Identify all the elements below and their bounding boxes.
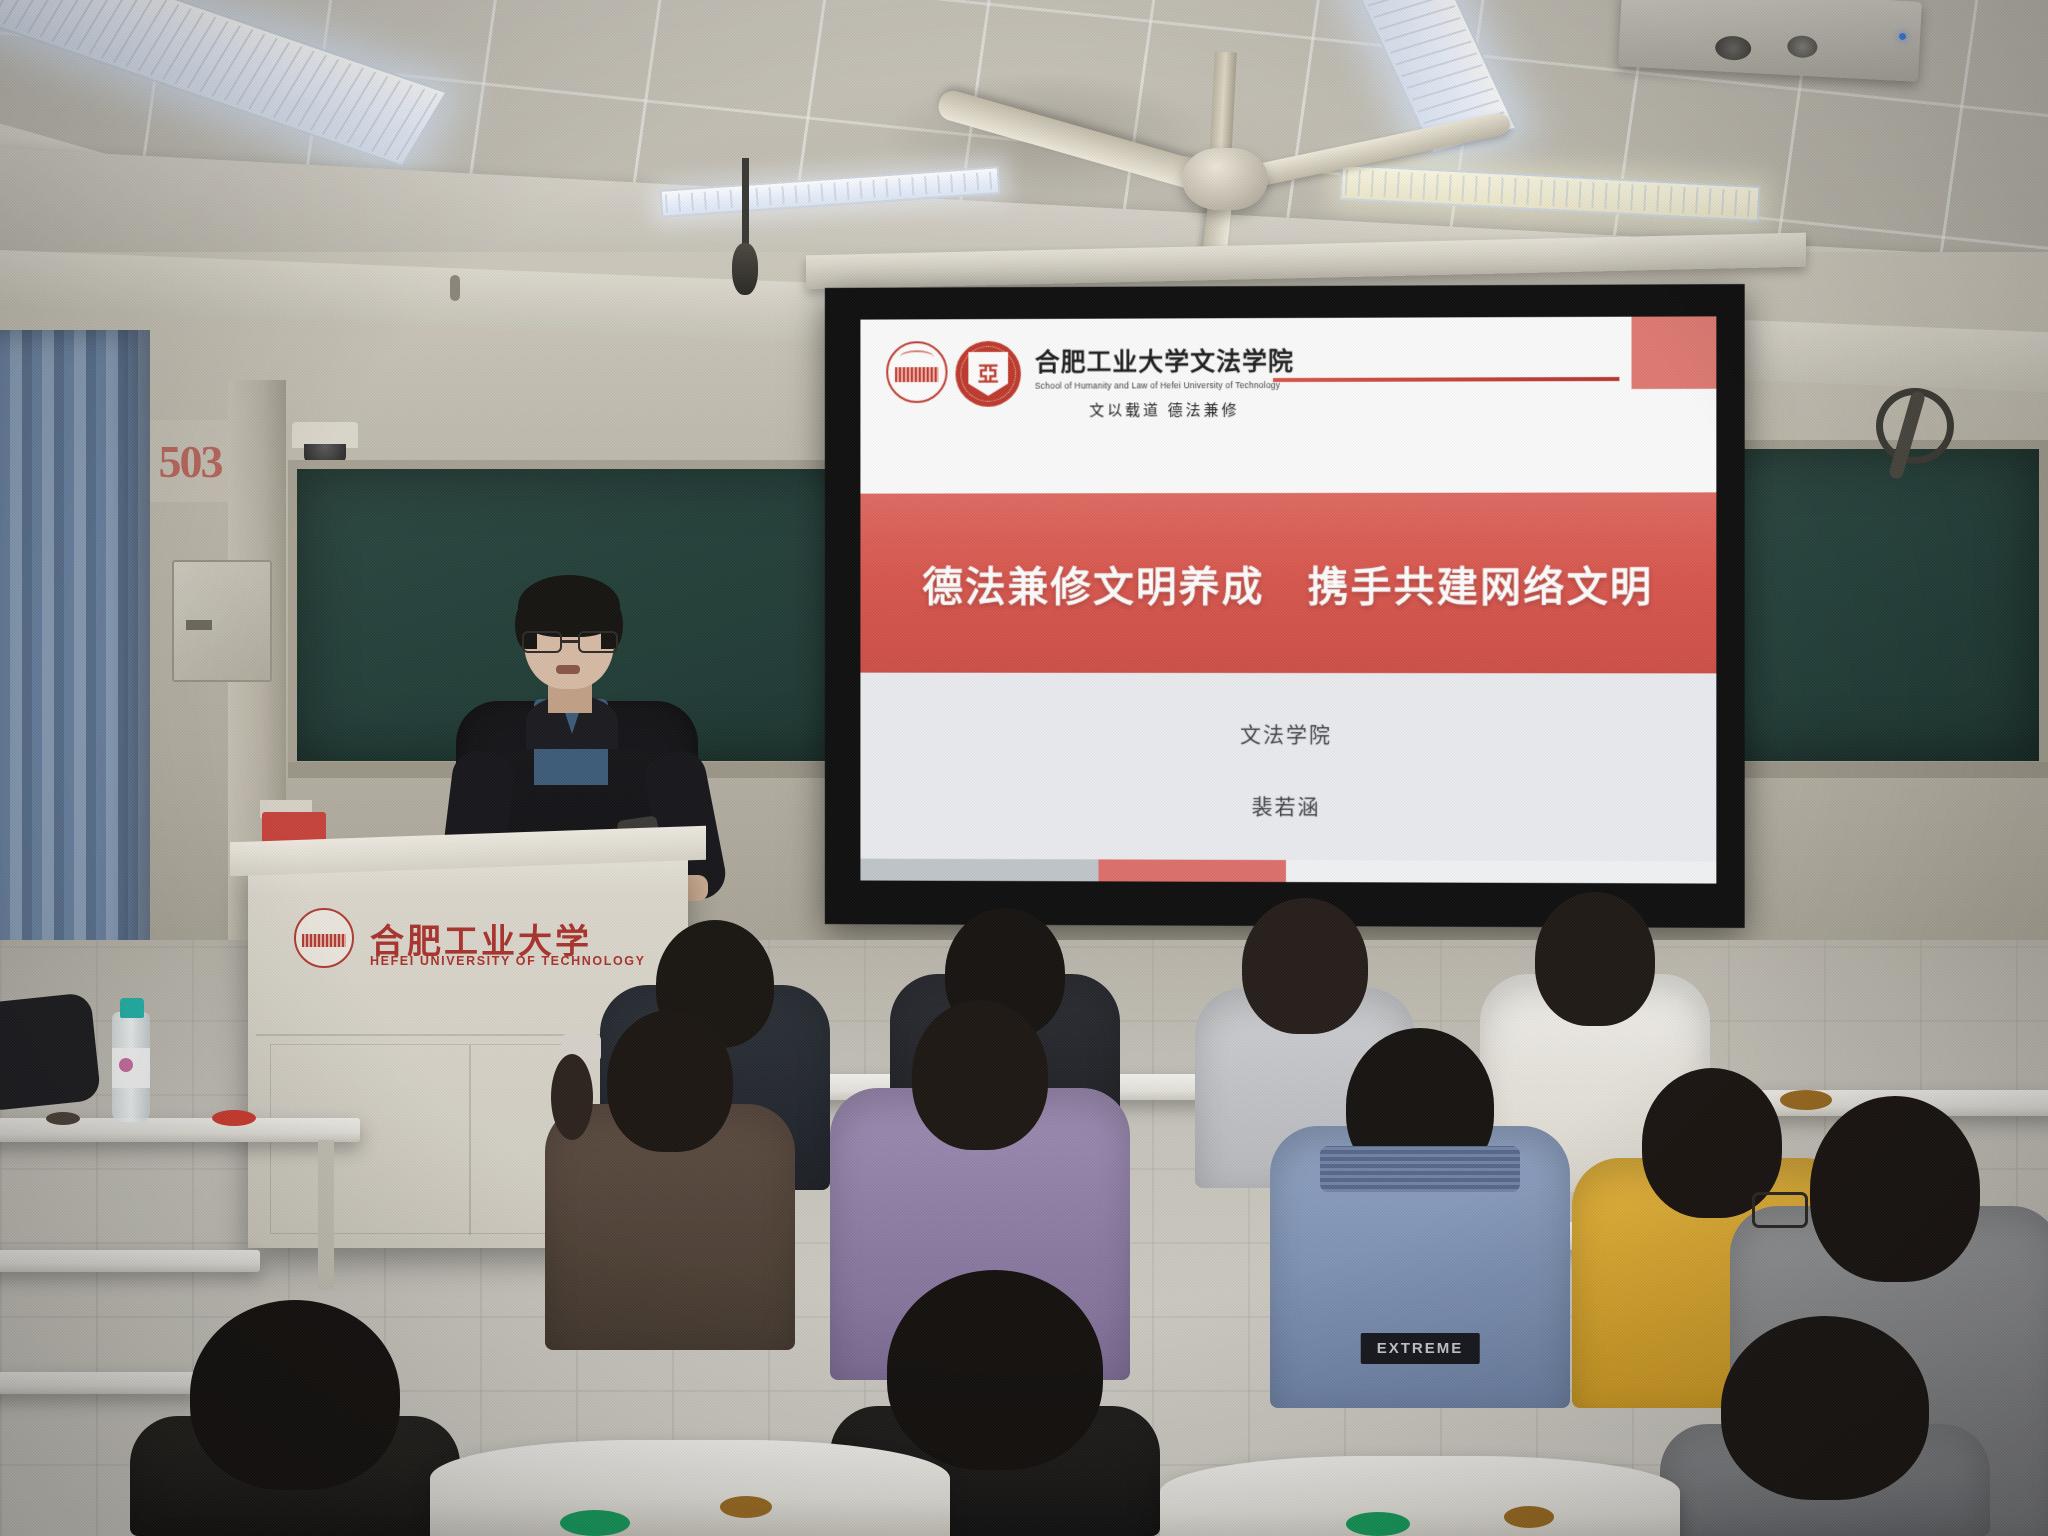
school-seal-glyph: 亞 (968, 352, 1008, 396)
slide-footer-segment-red (1098, 859, 1286, 882)
classroom-photo: 503 亞 合肥工业大学文法学院 School of Humanity and … (0, 0, 2048, 1536)
slide-organization: 文法学院 (1240, 719, 1332, 749)
slide-footer-bar (860, 859, 1716, 884)
presenter-hair (518, 575, 620, 637)
student-head (1535, 892, 1655, 1026)
glasses-icon (1752, 1192, 1808, 1228)
backpack (0, 992, 101, 1112)
projector-lens-secondary (1787, 35, 1818, 59)
desk-leg (318, 1140, 334, 1290)
jacket-badge: EXTREME (1361, 1333, 1480, 1364)
projection-screen: 亞 合肥工业大学文法学院 School of Humanity and Law … (825, 284, 1745, 928)
student-row-front (1660, 1316, 1990, 1536)
presenter-mouth (556, 665, 580, 674)
slide-footer-segment-white (1286, 860, 1716, 884)
slide-title-band: 德法兼修文明养成 携手共建网络文明 (860, 492, 1716, 673)
student-head (607, 1010, 733, 1152)
slide-school-motto: 文以载道 德法兼修 (1035, 399, 1294, 421)
slide-header-accent-block (1632, 316, 1717, 389)
university-emblem-icon (294, 908, 354, 968)
glasses-icon (522, 631, 618, 653)
slide-header: 亞 合肥工业大学文法学院 School of Humanity and Law … (860, 316, 1716, 493)
student-head (912, 1000, 1048, 1150)
student-head (190, 1300, 400, 1490)
desk-marker (720, 1496, 772, 1518)
desk-marker (46, 1112, 80, 1125)
slide-school-name-cn: 合肥工业大学文法学院 (1035, 342, 1294, 379)
slide-school-name-en: School of Humanity and Law of Hefei Univ… (1035, 380, 1294, 391)
student-desk (0, 1250, 260, 1272)
desk-marker (1504, 1506, 1554, 1528)
headband (1320, 1146, 1520, 1192)
student-head (887, 1270, 1103, 1470)
student-head (1810, 1096, 1980, 1282)
university-emblem-icon (886, 341, 947, 403)
student-desk (430, 1440, 950, 1536)
ceiling-fan-hub (1182, 148, 1268, 210)
slide-footer-segment-grey (860, 859, 1098, 882)
water-bottle-label (112, 1048, 150, 1088)
student-head (1242, 898, 1368, 1034)
desk-marker (212, 1110, 256, 1126)
slide-title: 德法兼修文明养成 携手共建网络文明 (922, 553, 1653, 613)
desk-marker (1346, 1512, 1410, 1536)
water-bottle-cap (120, 998, 144, 1018)
lectern-handle[interactable] (450, 275, 460, 301)
screen-pull-cord[interactable] (742, 158, 749, 246)
electrical-panel-box[interactable] (172, 560, 272, 682)
projector-status-led (1899, 33, 1906, 40)
ponytail (551, 1054, 593, 1140)
presentation-slide: 亞 合肥工业大学文法学院 School of Humanity and Law … (860, 316, 1716, 883)
desk-marker (560, 1510, 630, 1536)
room-number-label: 503 (159, 435, 222, 488)
slide-author: 裴若涵 (1252, 791, 1321, 821)
room-number-sign: 503 (150, 420, 230, 502)
slide-header-text: 合肥工业大学文法学院 School of Humanity and Law of… (1035, 340, 1294, 421)
screen-pull-weight[interactable] (732, 243, 758, 295)
slide-body: 文法学院 裴若涵 (860, 673, 1716, 884)
slide-header-rule (1273, 377, 1619, 382)
student-head (1721, 1316, 1929, 1500)
student-row-middle (545, 1010, 795, 1350)
student-desk (1160, 1456, 1680, 1536)
projector-lens (1715, 35, 1752, 61)
student-row-front (130, 1300, 460, 1536)
school-seal-icon: 亞 (955, 341, 1020, 407)
student-row-middle: EXTREME (1270, 1028, 1570, 1408)
